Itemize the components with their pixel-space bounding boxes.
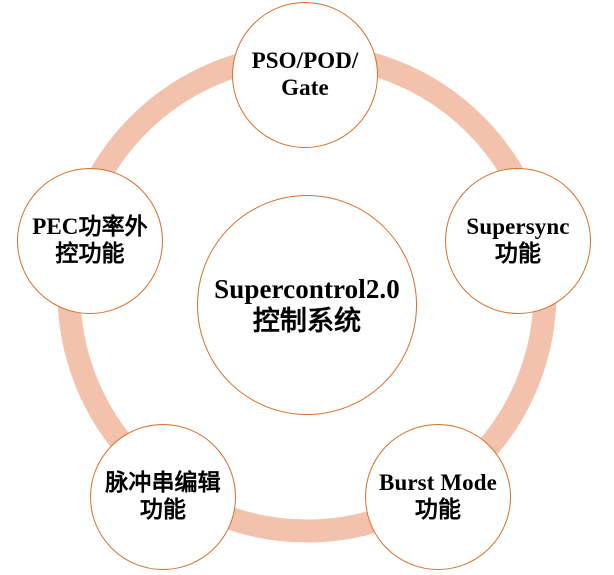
center-node-label: Supercontrol2.0控制系统 [198,273,416,338]
node-pulse-train-edit[interactable]: 脉冲串编辑功能 [90,424,236,570]
node-pec-power-external-control[interactable]: PEC功率外控功能 [17,168,163,314]
cycle-diagram: Supercontrol2.0控制系统 PSO/POD/Gate Supersy… [0,0,614,575]
node-burst-mode-label: Burst Mode功能 [366,470,510,523]
node-pso-pod-gate-label: PSO/POD/Gate [233,48,377,101]
center-node-supercontrol[interactable]: Supercontrol2.0控制系统 [197,195,417,415]
node-supersync-label: Supersync功能 [446,214,590,267]
node-supersync[interactable]: Supersync功能 [445,168,591,314]
node-pec-power-external-control-label: PEC功率外控功能 [18,214,162,267]
node-burst-mode[interactable]: Burst Mode功能 [365,424,511,570]
node-pso-pod-gate[interactable]: PSO/POD/Gate [232,2,378,148]
node-pulse-train-edit-label: 脉冲串编辑功能 [91,470,235,523]
